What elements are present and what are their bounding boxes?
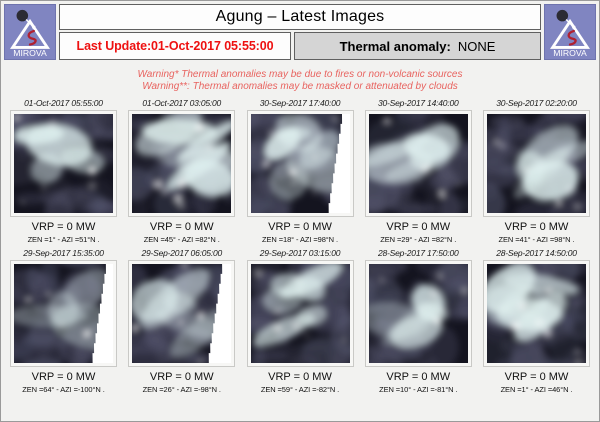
tile-timestamp: 29-Sep-2017 06:05:00 (141, 247, 222, 260)
tile-geometry-value: ZEN =10° - AZI =-81°N . (379, 385, 457, 394)
page-title: Agung – Latest Images (59, 4, 541, 30)
satellite-thermal-image (14, 114, 113, 213)
tile-vrp-value: VRP = 0 MW (505, 371, 569, 383)
image-tile[interactable]: 01-Oct-2017 03:05:00VRP = 0 MWZEN =45° -… (125, 97, 238, 244)
tile-geometry-value: ZEN =1° - AZI =46°N . (501, 385, 573, 394)
status-row: Last Update:01-Oct-2017 05:55:00 Thermal… (59, 32, 541, 60)
thermal-anomaly-box: Thermal anomaly: NONE (294, 32, 541, 60)
tile-vrp-value: VRP = 0 MW (32, 371, 96, 383)
tile-vrp-value: VRP = 0 MW (386, 221, 450, 233)
tile-geometry-value: ZEN =26° - AZI =-98°N . (143, 385, 221, 394)
tile-geometry-value: ZEN =64° - AZI =-100°N . (22, 385, 104, 394)
satellite-thermal-image (487, 114, 586, 213)
tile-geometry-value: ZEN =41° - AZI =98°N . (499, 235, 575, 244)
warning-line-1: Warning* Thermal anomalies may be due to… (1, 69, 599, 81)
tile-timestamp: 30-Sep-2017 02:20:00 (496, 97, 577, 110)
image-tile[interactable]: 28-Sep-2017 17:50:00VRP = 0 MWZEN =10° -… (362, 247, 475, 394)
mirova-logo-icon: MIROVA (545, 5, 595, 59)
thumbnail-frame[interactable] (483, 110, 590, 217)
thumbnail-frame[interactable] (365, 260, 472, 367)
tile-geometry-value: ZEN =45° - AZI =82°N . (144, 235, 220, 244)
thumbnail-frame[interactable] (10, 110, 117, 217)
thumbnail-frame[interactable] (10, 260, 117, 367)
tile-timestamp: 01-Oct-2017 03:05:00 (142, 97, 221, 110)
mirova-logo-icon: MIROVA (5, 5, 55, 59)
last-update-box: Last Update:01-Oct-2017 05:55:00 (59, 32, 291, 60)
image-tile[interactable]: 30-Sep-2017 17:40:00VRP = 0 MWZEN =18° -… (244, 97, 357, 244)
warning-line-2: Warning**: Thermal anomalies may be mask… (1, 81, 599, 93)
warning-block: Warning* Thermal anomalies may be due to… (1, 63, 599, 97)
mirova-logo-right: MIROVA (544, 4, 596, 60)
image-tile[interactable]: 29-Sep-2017 15:35:00VRP = 0 MWZEN =64° -… (7, 247, 120, 394)
mirova-latest-images-page: MIROVA Agung – Latest Images Last Update… (0, 0, 600, 422)
tile-geometry-value: ZEN =29° - AZI =82°N . (380, 235, 456, 244)
image-tile[interactable]: 30-Sep-2017 02:20:00VRP = 0 MWZEN =41° -… (480, 97, 593, 244)
thermal-anomaly-value: NONE (458, 39, 496, 54)
logo-text-right: MIROVA (553, 48, 587, 58)
tile-timestamp: 30-Sep-2017 14:40:00 (378, 97, 459, 110)
image-row-1: 01-Oct-2017 05:55:00VRP = 0 MWZEN =1° - … (7, 97, 593, 244)
image-grid: 01-Oct-2017 05:55:00VRP = 0 MWZEN =1° - … (1, 97, 599, 394)
image-tile[interactable]: 30-Sep-2017 14:40:00VRP = 0 MWZEN =29° -… (362, 97, 475, 244)
page-header: MIROVA Agung – Latest Images Last Update… (1, 1, 599, 63)
tile-timestamp: 29-Sep-2017 03:15:00 (260, 247, 341, 260)
tile-timestamp: 01-Oct-2017 05:55:00 (24, 97, 103, 110)
satellite-thermal-image (132, 114, 231, 213)
image-tile[interactable]: 01-Oct-2017 05:55:00VRP = 0 MWZEN =1° - … (7, 97, 120, 244)
tile-geometry-value: ZEN =18° - AZI =98°N . (262, 235, 338, 244)
image-tile[interactable]: 29-Sep-2017 03:15:00VRP = 0 MWZEN =59° -… (244, 247, 357, 394)
tile-vrp-value: VRP = 0 MW (386, 371, 450, 383)
thumbnail-frame[interactable] (128, 110, 235, 217)
tile-vrp-value: VRP = 0 MW (150, 221, 214, 233)
thumbnail-frame[interactable] (483, 260, 590, 367)
tile-timestamp: 28-Sep-2017 17:50:00 (378, 247, 459, 260)
tile-geometry-value: ZEN =59° - AZI =-82°N . (261, 385, 339, 394)
logo-text-left: MIROVA (13, 48, 47, 58)
tile-vrp-value: VRP = 0 MW (32, 221, 96, 233)
thumbnail-frame[interactable] (247, 260, 354, 367)
tile-timestamp: 28-Sep-2017 14:50:00 (496, 247, 577, 260)
image-tile[interactable]: 28-Sep-2017 14:50:00VRP = 0 MWZEN =1° - … (480, 247, 593, 394)
tile-vrp-value: VRP = 0 MW (268, 221, 332, 233)
mirova-logo-left: MIROVA (4, 4, 56, 60)
satellite-thermal-image (251, 114, 350, 213)
thumbnail-frame[interactable] (128, 260, 235, 367)
thumbnail-frame[interactable] (247, 110, 354, 217)
tile-vrp-value: VRP = 0 MW (505, 221, 569, 233)
satellite-thermal-image (14, 264, 113, 363)
satellite-thermal-image (251, 264, 350, 363)
satellite-thermal-image (487, 264, 586, 363)
image-tile[interactable]: 29-Sep-2017 06:05:00VRP = 0 MWZEN =26° -… (125, 247, 238, 394)
tile-vrp-value: VRP = 0 MW (268, 371, 332, 383)
tile-timestamp: 30-Sep-2017 17:40:00 (260, 97, 341, 110)
satellite-thermal-image (369, 264, 468, 363)
satellite-thermal-image (369, 114, 468, 213)
tile-timestamp: 29-Sep-2017 15:35:00 (23, 247, 104, 260)
tile-geometry-value: ZEN =1° - AZI =51°N . (28, 235, 100, 244)
thermal-anomaly-label: Thermal anomaly: (340, 39, 451, 54)
thumbnail-frame[interactable] (365, 110, 472, 217)
header-center: Agung – Latest Images Last Update:01-Oct… (59, 4, 541, 60)
tile-vrp-value: VRP = 0 MW (150, 371, 214, 383)
image-row-2: 29-Sep-2017 15:35:00VRP = 0 MWZEN =64° -… (7, 247, 593, 394)
satellite-thermal-image (132, 264, 231, 363)
